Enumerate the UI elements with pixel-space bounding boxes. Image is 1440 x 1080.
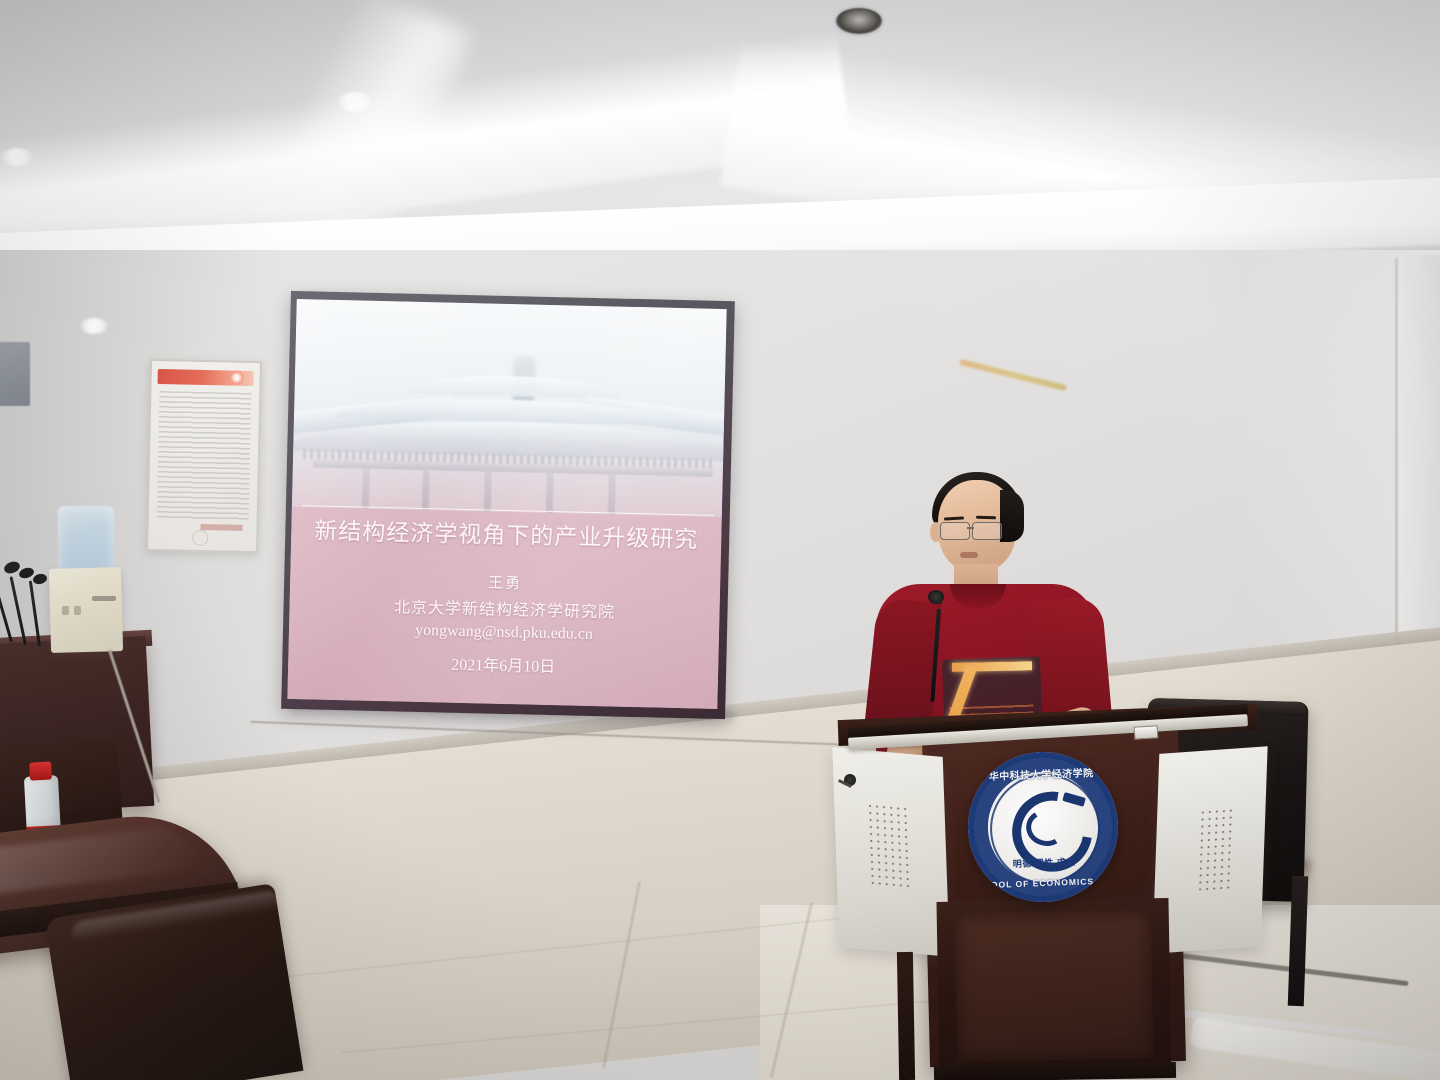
water-dispenser <box>49 567 123 653</box>
slide-body: 新结构经济学视角下的产业升级研究 王勇 北京大学新结构经济学研究院 yongwa… <box>287 507 721 709</box>
recessed-spotlight-icon <box>836 8 882 34</box>
water-dispenser-jug <box>58 506 114 574</box>
wall-poster <box>146 359 262 553</box>
glasses-icon <box>940 522 970 540</box>
microphone-icon <box>928 590 944 604</box>
downlight-icon <box>338 92 372 112</box>
projection-screen: 新结构经济学视角下的产业升级研究 王勇 北京大学新结构经济学研究院 yongwa… <box>281 291 735 719</box>
slide-date: 2021年6月10日 <box>288 647 718 681</box>
microphone-ring <box>930 604 942 609</box>
dispenser-slot <box>92 596 116 601</box>
lectern-base <box>934 1062 1176 1080</box>
lectern-control-button[interactable] <box>1134 725 1159 739</box>
presenter-hair-side <box>1000 490 1024 542</box>
glasses-icon <box>972 522 1002 540</box>
slide-title: 新结构经济学视角下的产业升级研究 <box>291 511 722 555</box>
glasses-bridge <box>967 527 974 529</box>
poster-body-text <box>157 391 252 521</box>
dispenser-tap[interactable] <box>74 606 81 615</box>
lectern-leg <box>897 952 915 1080</box>
school-emblem: 华中科技大学经济学院 明德 理性 求实 SCHOOL OF ECONOMICS … <box>965 749 1120 904</box>
wall-panel <box>0 342 30 406</box>
presenter-eyebrow <box>976 516 996 520</box>
bottle-cap <box>29 761 52 780</box>
dispenser-tap[interactable] <box>62 606 69 615</box>
presenter-mouth <box>960 552 978 558</box>
poster-seal-icon <box>192 530 208 546</box>
lectern-lower-inset <box>955 910 1154 1061</box>
screen-surface: 新结构经济学视角下的产业升级研究 王勇 北京大学新结构经济学研究院 yongwa… <box>287 299 726 709</box>
slide-photo-haze <box>292 299 727 521</box>
speaker-grill-icon <box>866 802 911 892</box>
poster-footer-text <box>200 524 242 531</box>
lecture-hall-photo: 新结构经济学视角下的产业升级研究 王勇 北京大学新结构经济学研究院 yongwa… <box>0 0 1440 1080</box>
slide-photo-banner <box>292 299 727 521</box>
downlight-icon <box>80 318 108 334</box>
speaker-grill-icon <box>1196 807 1235 893</box>
downlight-icon <box>2 148 32 166</box>
